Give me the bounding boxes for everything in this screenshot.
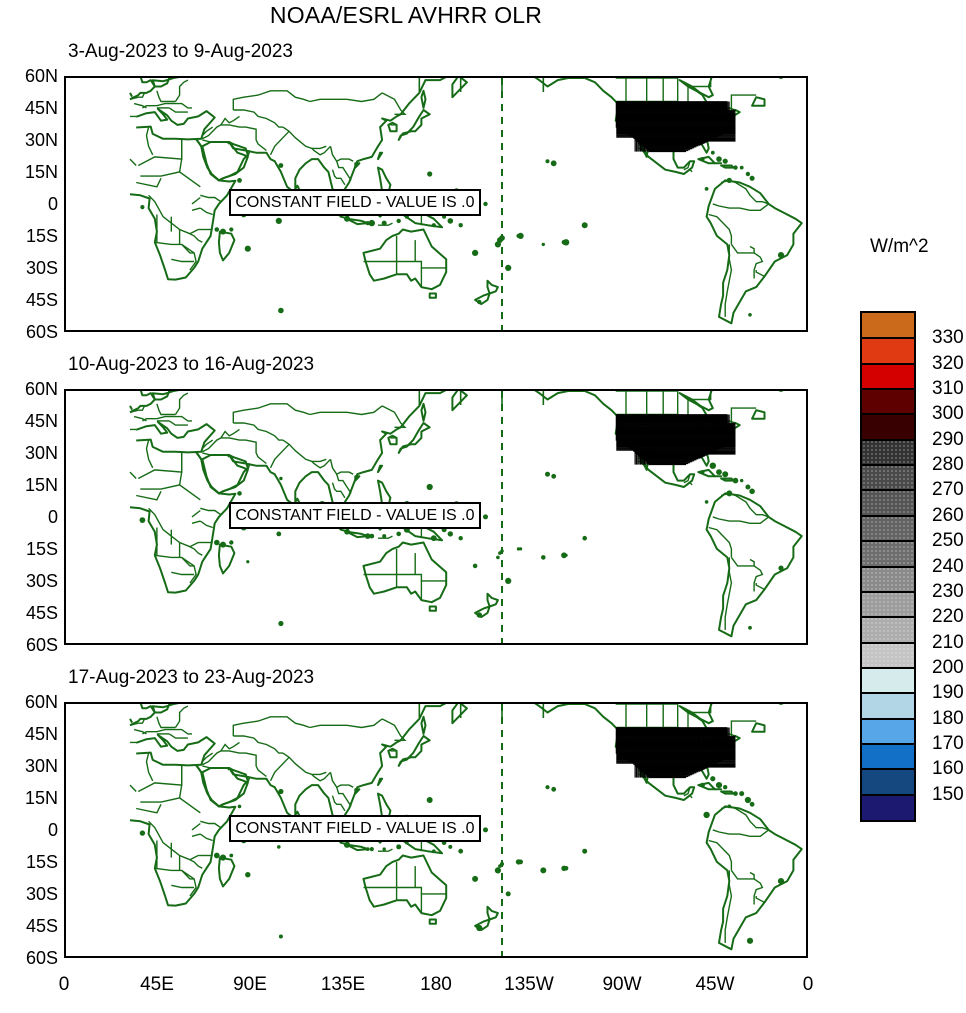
colorbar-tick-label: 290: [932, 429, 964, 451]
y-axis-tick-label: 60S: [0, 323, 58, 341]
map-plot-area: CONSTANT FIELD - VALUE IS .0: [64, 389, 808, 645]
panel-title: 3-Aug-2023 to 9-Aug-2023: [68, 41, 293, 63]
constant-field-annotation: CONSTANT FIELD - VALUE IS .0: [229, 189, 480, 216]
colorbar-tick-label: 320: [932, 353, 964, 375]
colorbar-swatch: [862, 668, 914, 693]
y-axis-tick-label: 30S: [0, 885, 58, 903]
colorbar-swatch: [862, 389, 914, 414]
colorbar-swatch: [862, 440, 914, 465]
x-axis-tick-label: 45E: [117, 974, 197, 996]
colorbar-divider: [862, 566, 914, 568]
x-axis-tick-label: 135E: [303, 974, 383, 996]
y-axis-tick-label: 60N: [0, 380, 58, 398]
y-axis-tick-label: 15S: [0, 853, 58, 871]
colorbar-tick-label: 240: [932, 556, 964, 578]
x-axis-tick-label: 90E: [210, 974, 290, 996]
colorbar-divider: [862, 388, 914, 390]
y-axis-tick-label: 30S: [0, 572, 58, 590]
y-axis-tick-label: 15N: [0, 476, 58, 494]
colorbar-swatch: [862, 364, 914, 389]
panel-title: 17-Aug-2023 to 23-Aug-2023: [68, 667, 314, 689]
figure: NOAA/ESRL AVHRR OLR 3-Aug-2023 to 9-Aug-…: [0, 0, 966, 1013]
colorbar-divider: [862, 794, 914, 796]
map-plot-area: CONSTANT FIELD - VALUE IS .0: [64, 76, 808, 332]
y-axis-tick-label: 0: [0, 821, 58, 839]
constant-field-annotation: CONSTANT FIELD - VALUE IS .0: [229, 502, 480, 529]
colorbar-tick-label: 230: [932, 581, 964, 603]
y-axis-tick-label: 30N: [0, 444, 58, 462]
colorbar-tick-label: 220: [932, 606, 964, 628]
colorbar-divider: [862, 743, 914, 745]
y-axis-tick-label: 45S: [0, 917, 58, 935]
y-axis-tick-label: 15N: [0, 163, 58, 181]
colorbar-divider: [862, 363, 914, 365]
x-axis-tick-label: 0: [24, 974, 104, 996]
us-state-borders: [616, 728, 735, 778]
colorbar-tick-label: 270: [932, 479, 964, 501]
colorbar-swatch: [862, 313, 914, 338]
colorbar-tick-label: 200: [932, 657, 964, 679]
us-state-borders: [616, 415, 735, 465]
colorbar-swatch: [862, 490, 914, 515]
colorbar-swatch: [862, 567, 914, 592]
x-axis-tick-label: 45W: [675, 974, 755, 996]
colorbar-swatch: [862, 693, 914, 718]
colorbar-tick-label: 330: [932, 327, 964, 349]
colorbar-divider: [862, 439, 914, 441]
colorbar-divider: [862, 413, 914, 415]
colorbar-divider: [862, 591, 914, 593]
colorbar-divider: [862, 540, 914, 542]
x-axis-tick-label: 90W: [582, 974, 662, 996]
colorbar-swatch: [862, 592, 914, 617]
colorbar-divider: [862, 515, 914, 517]
colorbar-swatch: [862, 516, 914, 541]
colorbar-tick-label: 280: [932, 454, 964, 476]
x-axis-tick-label: 135W: [489, 974, 569, 996]
x-axis-tick-label: 180: [396, 974, 476, 996]
colorbar-divider: [862, 489, 914, 491]
y-axis-tick-label: 0: [0, 508, 58, 526]
colorbar-swatch: [862, 338, 914, 363]
colorbar-tick-label: 250: [932, 530, 964, 552]
colorbar-divider: [862, 692, 914, 694]
colorbar-tick-label: 150: [932, 784, 964, 806]
colorbar-divider: [862, 768, 914, 770]
colorbar-tick-label: 310: [932, 378, 964, 400]
colorbar-divider: [862, 642, 914, 644]
colorbar-swatch: [862, 414, 914, 439]
colorbar-swatch: [862, 769, 914, 794]
y-axis-tick-label: 60S: [0, 636, 58, 654]
colorbar-divider: [862, 464, 914, 466]
colorbar-tick-label: 180: [932, 708, 964, 730]
colorbar-tick-label: 190: [932, 682, 964, 704]
colorbar-swatch: [862, 744, 914, 769]
y-axis-tick-label: 45N: [0, 412, 58, 430]
colorbar-divider: [862, 616, 914, 618]
colorbar-swatch: [862, 719, 914, 744]
colorbar-swatch: [862, 617, 914, 642]
colorbar-tick-label: 160: [932, 758, 964, 780]
y-axis-tick-label: 0: [0, 195, 58, 213]
y-axis-tick-label: 15S: [0, 540, 58, 558]
colorbar-units-label: W/m^2: [870, 236, 929, 258]
y-axis-tick-label: 45N: [0, 99, 58, 117]
constant-field-annotation: CONSTANT FIELD - VALUE IS .0: [229, 815, 480, 842]
colorbar-swatch: [862, 795, 914, 820]
panel-title: 10-Aug-2023 to 16-Aug-2023: [68, 354, 314, 376]
map-plot-area: CONSTANT FIELD - VALUE IS .0: [64, 702, 808, 958]
x-axis-tick-label: 0: [768, 974, 848, 996]
y-axis-tick-label: 60N: [0, 67, 58, 85]
colorbar-tick-label: 210: [932, 632, 964, 654]
page-title: NOAA/ESRL AVHRR OLR: [0, 2, 812, 29]
colorbar-divider: [862, 718, 914, 720]
y-axis-tick-label: 45S: [0, 291, 58, 309]
y-axis-tick-label: 30N: [0, 757, 58, 775]
colorbar-divider: [862, 667, 914, 669]
us-state-borders: [616, 102, 735, 152]
colorbar: [860, 311, 916, 822]
colorbar-tick-label: 260: [932, 505, 964, 527]
y-axis-tick-label: 15S: [0, 227, 58, 245]
colorbar-tick-label: 300: [932, 403, 964, 425]
y-axis-tick-label: 30S: [0, 259, 58, 277]
colorbar-swatch: [862, 643, 914, 668]
colorbar-tick-label: 170: [932, 733, 964, 755]
colorbar-swatch: [862, 541, 914, 566]
y-axis-tick-label: 30N: [0, 131, 58, 149]
colorbar-divider: [862, 337, 914, 339]
y-axis-tick-label: 60S: [0, 949, 58, 967]
y-axis-tick-label: 45S: [0, 604, 58, 622]
y-axis-tick-label: 45N: [0, 725, 58, 743]
y-axis-tick-label: 60N: [0, 693, 58, 711]
y-axis-tick-label: 15N: [0, 789, 58, 807]
colorbar-swatch: [862, 465, 914, 490]
